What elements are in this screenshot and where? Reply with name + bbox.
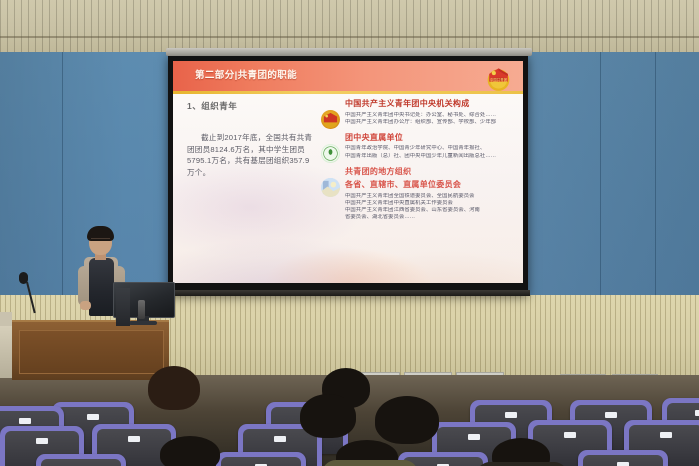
audience-head-mid-1	[300, 394, 356, 438]
ceiling-seam	[0, 36, 699, 38]
monitor-base	[129, 321, 157, 325]
projected-slide-area: 第二部分|共青团的职能 中国共青团 1、组织青年 截止到2017年底，全国共有	[173, 61, 523, 283]
slide-block-2-line-1: 中国青年政治学院、中国青少年研究中心、中国青年报社、	[345, 145, 519, 152]
projector-screen-roller	[166, 48, 532, 56]
projection-screen: 第二部分|共青团的职能 中国共青团 1、组织青年 截止到2017年底，全国共有	[168, 54, 528, 294]
slide-block-1-line-2: 中国共产主义青年团办公厅：组织部、宣传部、学校部、少年部	[345, 119, 519, 126]
audience-shoulder-front-3	[476, 462, 568, 466]
side-desk-top	[0, 312, 12, 326]
green-seal-badge	[321, 144, 340, 163]
seat-front-3[interactable]	[578, 450, 668, 466]
slide-title: 第二部分|共青团的职能	[195, 67, 297, 81]
slide-block-2-heading: 团中央直属单位	[345, 132, 519, 143]
wall-seam-right2	[600, 52, 601, 295]
microphone-arm	[26, 282, 36, 314]
slide-block-3-heading: 共青团的地方组织	[345, 166, 519, 177]
projection-screen-bottom-rail	[168, 290, 530, 296]
audience-head-mid-2	[375, 396, 439, 444]
photo-thumbnail-badge	[321, 178, 340, 197]
slide-block-2-line-2: 中国青年出版（总）社、团中央中国少年儿童新闻出版总社……	[345, 153, 519, 160]
communist-youth-league-emblem: 中国共青团	[483, 63, 514, 94]
wooden-lectern	[12, 320, 169, 380]
wall-seam-left	[62, 52, 63, 295]
seat-front-1[interactable]	[216, 452, 306, 466]
slide-block-3-line-2: 中国共产主义青年团中央直属机关工作委员会	[345, 200, 519, 207]
lectern-front-panel	[19, 330, 164, 374]
wall-seam-right	[655, 52, 656, 295]
slide-block-3-heading-2: 各省、直辖市、直属单位委员会	[345, 179, 519, 190]
slide-content: 1、组织青年 截止到2017年底，全国共有共青团团员8124.6万名，其中学生团…	[173, 94, 523, 283]
slide-right-column: 中国共产主义青年团中央机关构成 中国共产主义青年团中央书记处：办公室、秘书处、综…	[323, 98, 519, 228]
presenter-glasses	[91, 238, 110, 243]
screenshot-root: 第二部分|共青团的职能 中国共青团 1、组织青年 截止到2017年底，全国共有	[0, 0, 699, 466]
presentation-slide: 第二部分|共青团的职能 中国共青团 1、组织青年 截止到2017年底，全国共有	[173, 61, 523, 283]
presenter-hand	[80, 301, 91, 310]
slide-block-3-line-3: 中国共产主义青年团江西省委员会、山东省委员会、河南	[345, 207, 519, 214]
slide-block-3-line-4: 省委员会、湖北省委员会……	[345, 214, 519, 221]
slide-block-3: 共青团的地方组织 各省、直辖市、直属单位委员会 中国共产主义青年团全国铁道委员会…	[323, 166, 519, 222]
computer-tower	[116, 288, 130, 326]
svg-text:中国共青团: 中国共青团	[490, 77, 508, 82]
audience-head-back-1	[148, 366, 200, 410]
slide-block-1-line-1: 中国共产主义青年团中央书记处：办公室、秘书处、综合处……	[345, 112, 519, 119]
audience-seating	[0, 372, 699, 466]
gooseneck-microphone	[19, 272, 41, 314]
slide-left-column: 1、组织青年 截止到2017年底，全国共有共青团团员8124.6万名，其中学生团…	[187, 100, 315, 178]
slide-block-2: 团中央直属单位 中国青年政治学院、中国青少年研究中心、中国青年报社、 中国青年出…	[323, 132, 519, 160]
slide-block-3-line-1: 中国共产主义青年团全国铁道委员会、全国民航委员会	[345, 193, 519, 200]
presenter-vest	[89, 258, 114, 316]
water-bottle	[138, 300, 145, 319]
seat-front-4[interactable]	[36, 454, 126, 466]
youth-league-emblem-badge	[321, 110, 340, 129]
audience-head-front-1	[160, 436, 220, 466]
slide-section-label: 1、组织青年	[187, 100, 315, 112]
audience-shoulder-front-2	[322, 460, 418, 466]
slide-block-1: 中国共产主义青年团中央机关构成 中国共产主义青年团中央书记处：办公室、秘书处、综…	[323, 98, 519, 126]
slide-left-paragraph: 截止到2017年底，全国共有共青团团员8124.6万名，其中学生团员5795.1…	[187, 132, 315, 178]
ceiling-ribbed-panel	[0, 0, 699, 52]
slide-block-1-heading: 中国共产主义青年团中央机关构成	[345, 98, 519, 109]
